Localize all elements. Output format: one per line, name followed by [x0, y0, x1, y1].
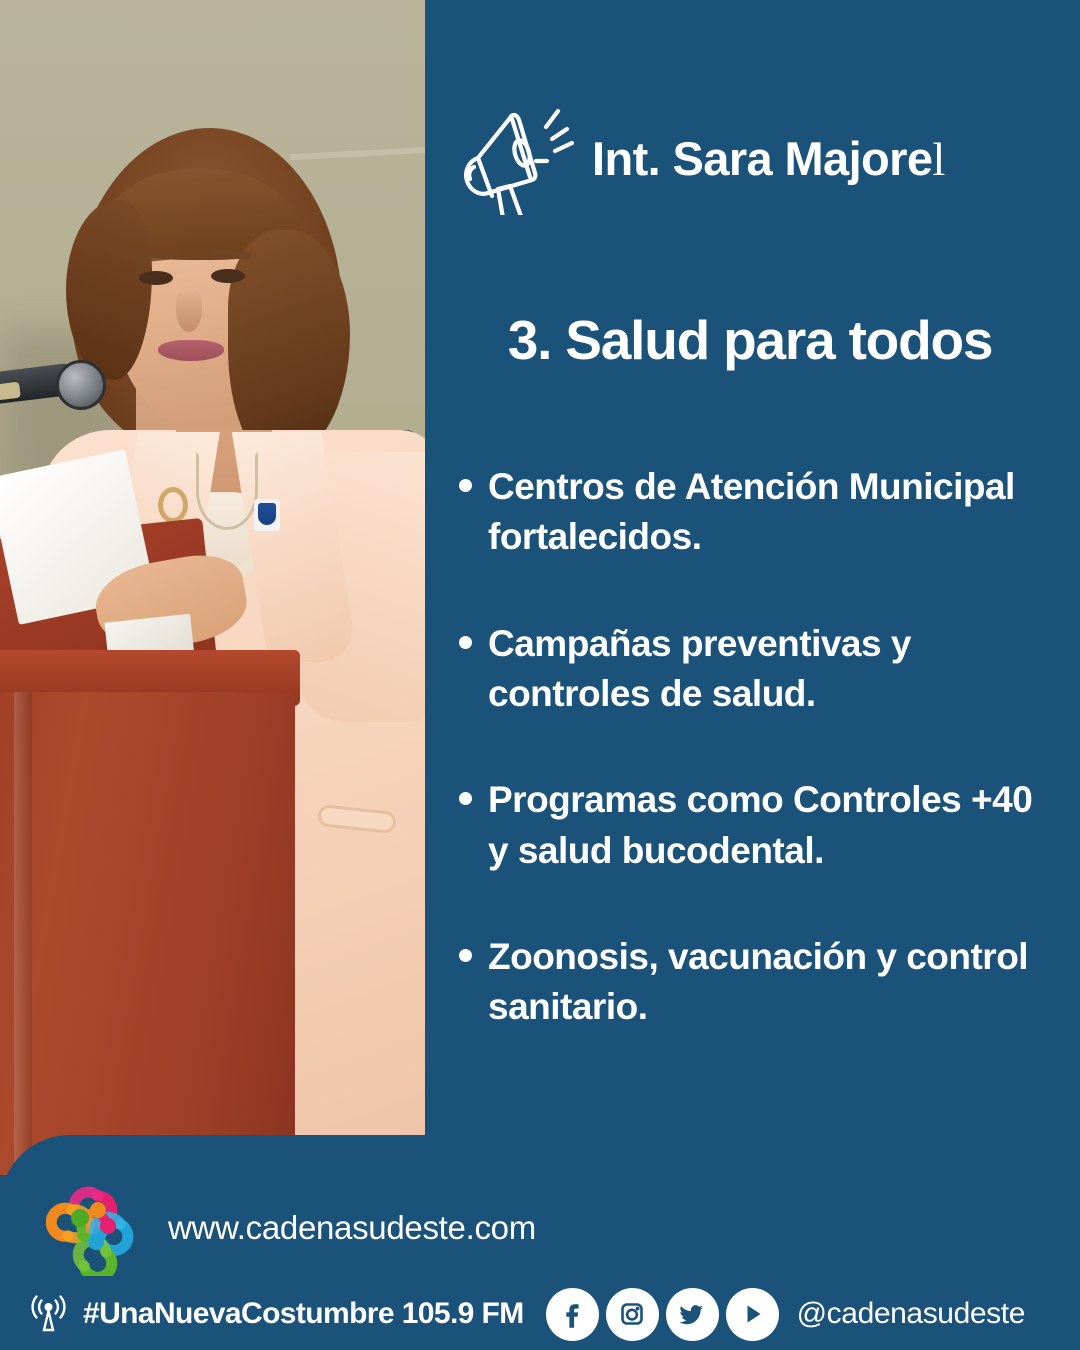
cadena-sudeste-logo-icon [46, 1180, 142, 1276]
page-title: 3. Salud para todos [440, 310, 1060, 371]
radio-broadcast-icon [26, 1292, 71, 1337]
list-item-text: Centros de Atención Municipal fortalecid… [488, 466, 1015, 557]
bullet-dot-icon [459, 636, 472, 649]
bullet-list: Centros de Atención Municipal fortalecid… [450, 462, 1050, 1033]
photo-podium-edge [14, 692, 32, 1175]
photo-eye-left [139, 271, 173, 285]
speaker-photo [0, 0, 425, 1175]
instagram-icon[interactable] [606, 1288, 659, 1341]
bullet-dot-icon [459, 949, 472, 962]
list-item-text: Zoonosis, vacunación y control sanitario… [488, 936, 1028, 1027]
twitter-icon[interactable] [666, 1288, 719, 1341]
list-item: Programas como Controles +40 y salud buc… [450, 775, 1050, 876]
youtube-icon[interactable] [726, 1288, 779, 1341]
photo-lips [158, 340, 224, 361]
photo-microphone-head [56, 360, 106, 410]
photo-necklace-pendant [158, 487, 188, 523]
photo-lapel-pin [254, 499, 280, 531]
radio-hashtag-frequency: #UnaNuevaCostumbre 105.9 FM [83, 1297, 524, 1331]
list-item-text: Campañas preventivas y controles de salu… [488, 623, 911, 714]
photo-nose [176, 288, 202, 332]
list-item-text: Programas como Controles +40 y salud buc… [488, 779, 1032, 870]
photo-necklace-chain [196, 452, 258, 530]
footer-website-row: www.cadenasudeste.com [46, 1180, 536, 1276]
photo-eye-right [211, 269, 245, 283]
social-links [546, 1288, 779, 1341]
poster-header: Int. Sara Majorel [452, 96, 1012, 216]
social-media-poster: Int. Sara Majorel 3. Salud para todos Ce… [0, 0, 1080, 1350]
bullet-dot-icon [459, 479, 472, 492]
header-title: Int. Sara Majorel [592, 135, 945, 184]
header-title-tail: l [932, 134, 945, 186]
facebook-icon[interactable] [546, 1288, 599, 1341]
social-handle[interactable]: @cadenasudeste [797, 1297, 1025, 1331]
list-item: Campañas preventivas y controles de salu… [450, 619, 1050, 720]
bottom-bar: #UnaNuevaCostumbre 105.9 FM [0, 1285, 1080, 1343]
bullet-dot-icon [459, 792, 472, 805]
header-title-name: Int. Sara Majore [592, 132, 932, 185]
list-item: Zoonosis, vacunación y control sanitario… [450, 932, 1050, 1033]
list-item: Centros de Atención Municipal fortalecid… [450, 462, 1050, 563]
photo-podium-body [0, 692, 295, 1175]
megaphone-icon [452, 97, 574, 215]
website-url[interactable]: www.cadenasudeste.com [168, 1209, 536, 1247]
